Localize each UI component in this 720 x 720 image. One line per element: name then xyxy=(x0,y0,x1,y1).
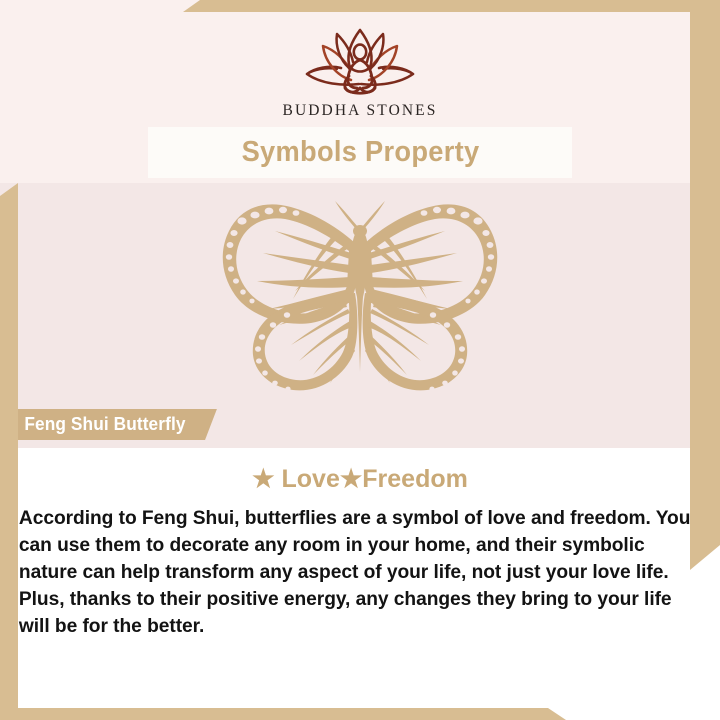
lotus-meditation-figure-icon xyxy=(285,22,435,100)
page-title: Symbols Property xyxy=(241,136,479,169)
page-title-banner: Symbols Property xyxy=(148,127,572,178)
monarch-butterfly-icon xyxy=(195,197,525,402)
brand-name: BUDDHA STONES xyxy=(0,102,720,120)
symbols-property-infographic: BUDDHA STONES Symbols Property xyxy=(0,0,720,720)
butterfly-illustration xyxy=(0,197,720,407)
content-heading: ★ Love★Freedom xyxy=(0,448,720,494)
tag-body: Feng Shui Butterfly xyxy=(0,409,195,440)
feng-shui-butterfly-tag: Feng Shui Butterfly xyxy=(0,409,217,440)
tag-slant-edge xyxy=(195,409,217,440)
tag-label: Feng Shui Butterfly xyxy=(24,414,185,435)
brand-logo: BUDDHA STONES xyxy=(0,22,720,120)
content-section: ★ Love★Freedom According to Feng Shui, b… xyxy=(0,448,720,720)
content-paragraph: According to Feng Shui, butterflies are … xyxy=(0,494,716,640)
